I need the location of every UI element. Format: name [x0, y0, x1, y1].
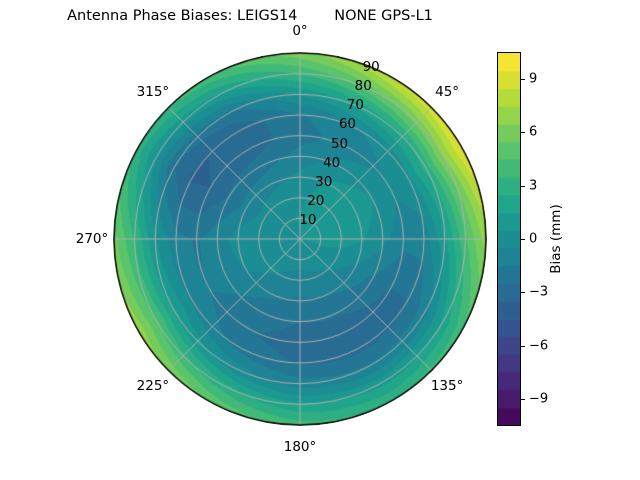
colorbar[interactable]: 9630−3−6−9: [497, 52, 521, 426]
radial-tick-label-80: 80: [355, 78, 372, 94]
colorbar-tick-label--9: −9: [529, 392, 548, 407]
colorbar-tick--9: [521, 399, 525, 400]
colorbar-gradient: [497, 52, 521, 426]
colorbar-tick-label--3: −3: [529, 285, 548, 300]
polar-contour-canvas: [113, 52, 487, 426]
radial-tick-label-70: 70: [347, 97, 364, 113]
colorbar-tick-label-3: 3: [529, 178, 537, 193]
angular-tick-label-225: 225°: [137, 378, 170, 394]
angular-tick-label-45: 45°: [435, 84, 459, 100]
angular-tick-label-0: 0°: [292, 23, 307, 39]
colorbar-tick-0: [521, 239, 525, 240]
radial-tick-label-40: 40: [323, 155, 340, 171]
colorbar-tick-6: [521, 132, 525, 133]
angular-tick-label-315: 315°: [137, 84, 170, 100]
colorbar-tick-9: [521, 79, 525, 80]
radial-tick-label-90: 90: [363, 59, 380, 75]
angular-tick-label-135: 135°: [431, 378, 464, 394]
colorbar-tick-3: [521, 186, 525, 187]
polar-plot-axes[interactable]: 0°45°90135°180°225°270°315°1020304050607…: [113, 52, 487, 426]
colorbar-tick-label-9: 9: [529, 71, 537, 86]
radial-tick-label-30: 30: [315, 174, 332, 190]
figure-canvas: Antenna Phase Biases: LEIGS14 NONE GPS-L…: [0, 0, 640, 480]
angular-tick-label-270: 270°: [76, 231, 109, 247]
colorbar-tick-label-6: 6: [529, 125, 537, 140]
colorbar-tick--3: [521, 292, 525, 293]
radial-tick-label-60: 60: [339, 116, 356, 132]
colorbar-tick-label-0: 0: [529, 232, 537, 247]
page-title: Antenna Phase Biases: LEIGS14 NONE GPS-L…: [0, 8, 500, 24]
angular-tick-label-180: 180°: [284, 439, 317, 455]
colorbar-tick-label--6: −6: [529, 338, 548, 353]
colorbar-tick--6: [521, 346, 525, 347]
colorbar-axis-label: Bias (mm): [548, 204, 564, 273]
radial-tick-label-50: 50: [331, 136, 348, 152]
radial-tick-label-20: 20: [307, 193, 324, 209]
radial-tick-label-10: 10: [299, 212, 316, 228]
